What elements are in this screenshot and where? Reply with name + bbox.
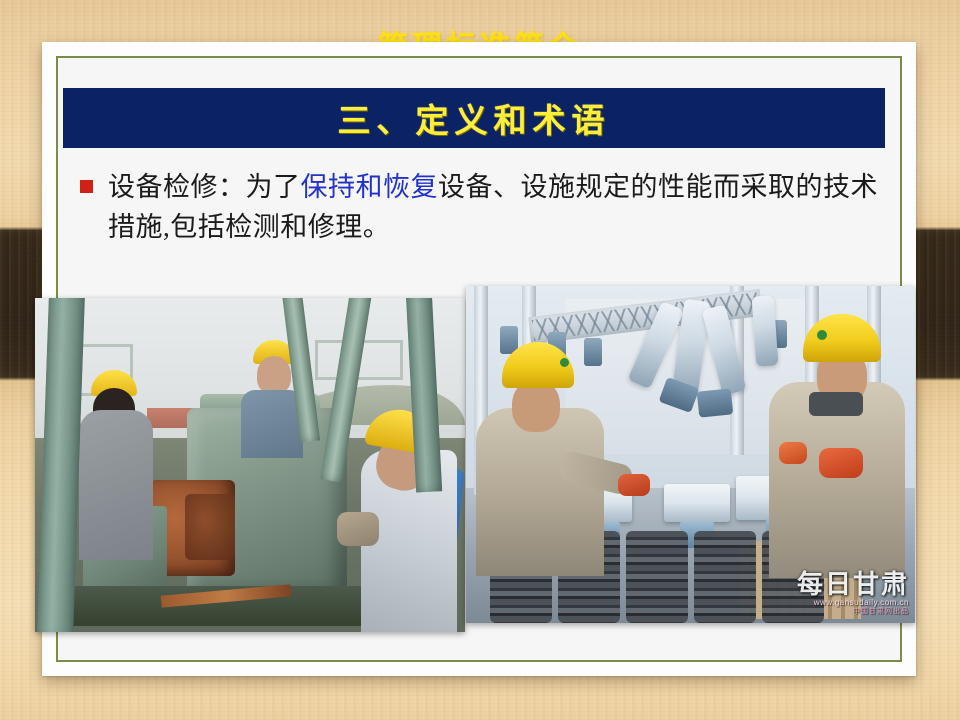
definition-text: 设备检修：为了保持和恢复设备、设施规定的性能而采取的技术措施,包括检测和修理。 [108,168,880,248]
section-banner: 三、定义和术语 [63,88,885,148]
photo-equipment-block [664,484,730,522]
section-banner-title: 三、定义和术语 [338,94,611,142]
photo-work-glove [337,512,379,546]
photo-helmet-badge [560,358,569,367]
definition-text-lead: 设备检修：为了 [108,172,301,202]
photo-bushing-cap [697,388,734,417]
photo-work-glove [819,448,863,478]
photo-worker-body [476,408,604,576]
photo-worker-collar [809,392,863,416]
photo-worker-head [257,356,291,394]
substation-insulator-photo: 每日甘肃 www.gansudaily.com.cn 中国甘肃网出品 [466,286,915,623]
photo-insulator-cap [584,338,602,366]
photo-worker-body [79,410,153,560]
photo-disc-stack [694,531,756,623]
photo-worker-body [241,390,303,458]
slide-canvas: 管理标准简介 三、定义和术语 设备检修：为了保持和恢复设备、设施规定的性能而采取… [0,0,960,720]
photo-disc-stack [626,531,688,623]
definition-text-highlight: 保持和恢复 [301,172,439,202]
bullet-square-icon [80,180,93,193]
definition-bullet: 设备检修：为了保持和恢复设备、设施规定的性能而采取的技术措施,包括检测和修理。 [80,168,880,248]
photo-flange-hub [185,494,235,560]
photo-work-glove [618,474,650,496]
photo-helmet-badge [817,330,827,340]
gearbox-maintenance-photo [35,298,465,632]
photo-work-glove [779,442,807,464]
